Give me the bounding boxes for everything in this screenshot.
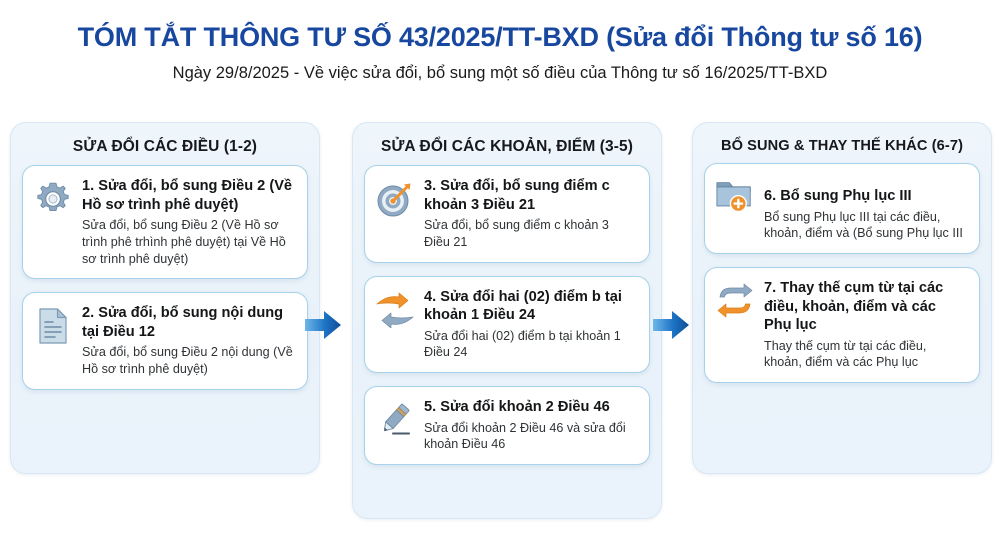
card-4-desc: Sửa đổi hai (02) điểm b tại khoản 1 Điều… [424,328,637,361]
card-item-5[interactable]: 5. Sửa đổi khoản 2 Điều 46 Sửa đổi khoản… [364,386,650,465]
column-2-header: SỬA ĐỔI CÁC KHOẢN, ĐIỂM (3-5) [364,133,650,165]
card-item-3[interactable]: 3. Sửa đổi, bổ sung điểm c khoản 3 Điều … [364,165,650,263]
column-sua-doi-cac-khoan-diem: SỬA ĐỔI CÁC KHOẢN, ĐIỂM (3-5) 3. Sửa đổi… [352,122,662,519]
card-7-body: 7. Thay thế cụm từ tại các điều, khoản, … [764,279,967,371]
column-bo-sung-thay-the-khac: BỔ SUNG & THAY THẾ KHÁC (6-7) 6. Bổ sung… [692,122,992,474]
card-5-desc: Sửa đổi khoản 2 Điều 46 và sửa đổi khoản… [424,420,637,453]
card-1-desc: Sửa đổi, bổ sung Điều 2 (Về Hồ sơ trình … [82,217,295,267]
arrow-col1-to-col2 [303,308,343,342]
card-item-2[interactable]: 2. Sửa đổi, bổ sung nội dung tại Điều 12… [22,292,308,390]
card-item-6[interactable]: 6. Bổ sung Phụ lục III Bổ sung Phụ lục I… [704,163,980,254]
card-7-desc: Thay thế cụm từ tại các điều, khoản, điể… [764,338,967,371]
card-1-body: 1. Sửa đổi, bổ sung Điều 2 (Về Hồ sơ trì… [82,177,295,267]
card-3-desc: Sửa đổi, bổ sung điểm c khoản 3 Điều 21 [424,217,637,250]
gear-icon [33,179,73,219]
page-subtitle: Ngày 29/8/2025 - Về việc sửa đổi, bổ sun… [0,64,1000,84]
arrow-col2-to-col3 [651,308,691,342]
page-header: TÓM TẮT THÔNG TƯ SỐ 43/2025/TT-BXD (Sửa … [0,0,1000,84]
card-6-body: 6. Bổ sung Phụ lục III Bổ sung Phụ lục I… [764,175,967,242]
column-1-header: SỬA ĐỔI CÁC ĐIỀU (1-2) [22,133,308,165]
card-2-body: 2. Sửa đổi, bổ sung nội dung tại Điều 12… [82,304,295,378]
document-icon [33,306,73,346]
card-7-title: 7. Thay thế cụm từ tại các điều, khoản, … [764,279,967,335]
card-4-body: 4. Sửa đổi hai (02) điểm b tại khoản 1 Đ… [424,288,637,362]
card-2-title: 2. Sửa đổi, bổ sung nội dung tại Điều 12 [82,304,295,341]
card-6-title: 6. Bổ sung Phụ lục III [764,187,967,206]
card-item-7[interactable]: 7. Thay thế cụm từ tại các điều, khoản, … [704,267,980,383]
card-5-title: 5. Sửa đổi khoản 2 Điều 46 [424,398,637,417]
card-3-title: 3. Sửa đổi, bổ sung điểm c khoản 3 Điều … [424,177,637,214]
two-way-arrows-icon [375,290,415,330]
card-2-desc: Sửa đổi, bổ sung Điều 2 nội dung (Về Hồ … [82,344,295,377]
replace-cycle-icon [715,281,755,321]
card-6-desc: Bổ sung Phụ lục III tại các điều, khoản,… [764,209,967,242]
folder-add-icon [715,175,755,215]
infographic-board: SỬA ĐỔI CÁC ĐIỀU (1-2) 1. Sửa đổi, bổ su… [0,122,1000,538]
card-item-1[interactable]: 1. Sửa đổi, bổ sung Điều 2 (Về Hồ sơ trì… [22,165,308,279]
card-5-body: 5. Sửa đổi khoản 2 Điều 46 Sửa đổi khoản… [424,398,637,453]
card-item-4[interactable]: 4. Sửa đổi hai (02) điểm b tại khoản 1 Đ… [364,276,650,374]
card-4-title: 4. Sửa đổi hai (02) điểm b tại khoản 1 Đ… [424,288,637,325]
column-sua-doi-cac-dieu: SỬA ĐỔI CÁC ĐIỀU (1-2) 1. Sửa đổi, bổ su… [10,122,320,474]
card-1-title: 1. Sửa đổi, bổ sung Điều 2 (Về Hồ sơ trì… [82,177,295,214]
page-title: TÓM TẮT THÔNG TƯ SỐ 43/2025/TT-BXD (Sửa … [0,22,1000,53]
pencil-icon [375,400,415,440]
target-icon [375,179,415,219]
column-3-header: BỔ SUNG & THAY THẾ KHÁC (6-7) [704,133,980,163]
card-3-body: 3. Sửa đổi, bổ sung điểm c khoản 3 Điều … [424,177,637,251]
